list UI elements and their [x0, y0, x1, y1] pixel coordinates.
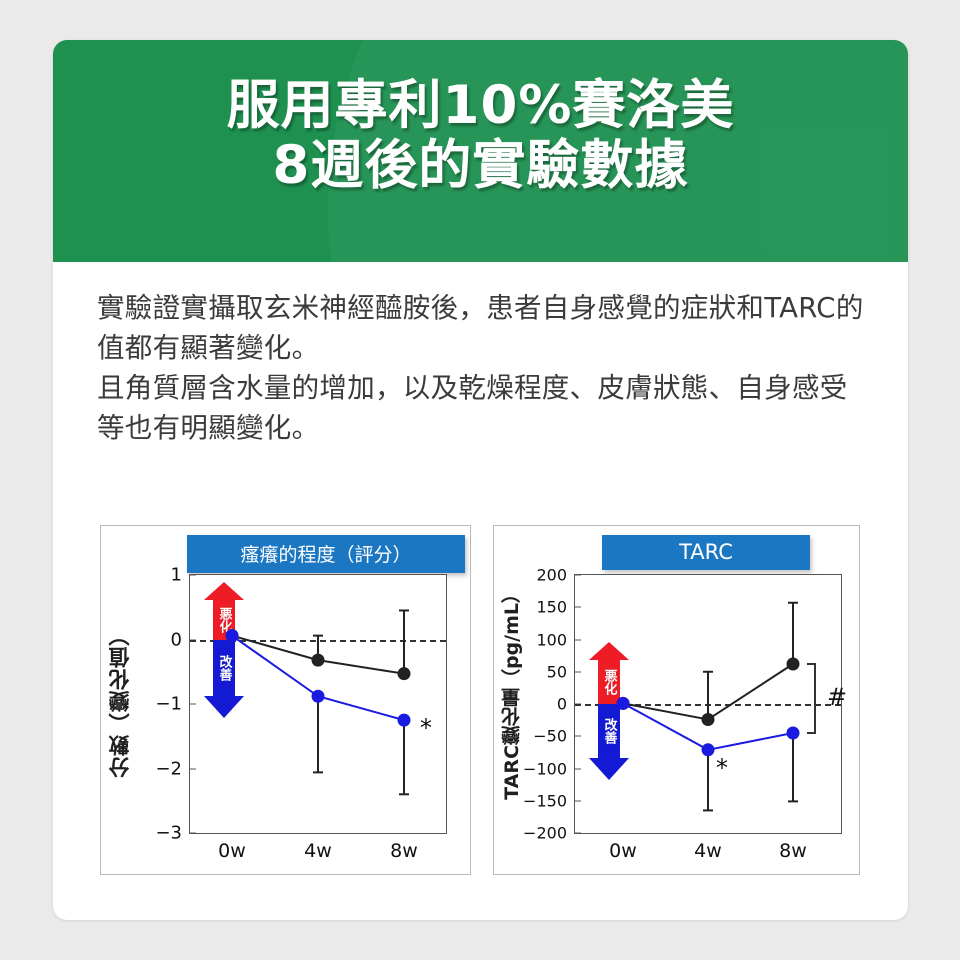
chart-plot-area-tarc: 200150100500−50−100−150−2000w4w8w悪化改善*#: [574, 574, 842, 834]
significance-bracket: [807, 664, 815, 733]
body-text: 實驗證實攝取玄米神經醯胺後，患者自身感覺的症狀和TARC的值都有顯著變化。 且角…: [97, 288, 872, 449]
y-axis-tick-label: 200: [536, 566, 567, 585]
annotation-asterisk: *: [716, 756, 728, 780]
y-axis-tick-label: −200: [523, 824, 567, 843]
x-axis-tick-label: 0w: [609, 840, 637, 862]
x-axis-tick-label: 8w: [390, 840, 418, 862]
page-root: 服用專利10%賽洛美 8週後的實驗數據 實驗證實攝取玄米神經醯胺後，患者自身感覺…: [0, 0, 960, 960]
y-axis-tick-label: −3: [155, 823, 182, 844]
charts-row: 瘙癢的程度（評分） 分數（變化值） 10−1−2−30w4w8w悪化改善* TA…: [100, 525, 860, 875]
chart-series-layer: [190, 575, 446, 833]
x-axis-tick-label: 8w: [779, 840, 807, 862]
header-banner: 服用專利10%賽洛美 8週後的實驗數據: [53, 40, 908, 262]
x-axis-tick-label: 4w: [694, 840, 722, 862]
chart-panel-itch-score: 瘙癢的程度（評分） 分數（變化值） 10−1−2−30w4w8w悪化改善*: [100, 525, 471, 875]
y-axis-tick-label: −2: [155, 758, 182, 779]
content-card: 服用專利10%賽洛美 8週後的實驗數據 實驗證實攝取玄米神經醯胺後，患者自身感覺…: [53, 40, 908, 920]
data-point: [398, 667, 411, 680]
data-point: [787, 658, 800, 671]
header-title-line1: 服用專利10%賽洛美: [53, 76, 908, 136]
y-axis-tick-label: −1: [155, 694, 182, 715]
x-axis-tick-label: 4w: [304, 840, 332, 862]
chart-plot-area-itch-score: 10−1−2−30w4w8w悪化改善*: [189, 574, 447, 834]
y-axis-tick-label: 150: [536, 598, 567, 617]
data-point: [312, 654, 325, 667]
data-point: [617, 697, 630, 710]
chart-ylabel-tarc: TARC變化量（pg/mL）: [498, 584, 525, 800]
annotation-hash: #: [827, 685, 847, 709]
y-axis-tick-label: 1: [171, 565, 182, 586]
data-point: [702, 713, 715, 726]
data-point: [398, 714, 411, 727]
chart-series-layer: [575, 575, 841, 833]
chart-panel-tarc: TARC TARC變化量（pg/mL） 200150100500−50−100−…: [493, 525, 860, 875]
chart-title-tarc: TARC: [602, 535, 810, 570]
data-point: [226, 629, 239, 642]
data-point: [787, 727, 800, 740]
chart-ylabel-itch-score: 分數（變化值）: [105, 624, 135, 778]
annotation-asterisk: *: [420, 716, 432, 740]
data-point: [702, 743, 715, 756]
chart-title-itch-score: 瘙癢的程度（評分）: [187, 535, 465, 573]
header-title-line2: 8週後的實驗數據: [53, 136, 908, 196]
data-point: [312, 690, 325, 703]
y-axis-tick-label: 100: [536, 630, 567, 649]
y-axis-tick-label: −50: [533, 727, 567, 746]
body-paragraph-1: 實驗證實攝取玄米神經醯胺後，患者自身感覺的症狀和TARC的值都有顯著變化。: [97, 288, 872, 368]
y-axis-tick-label: −100: [523, 759, 567, 778]
y-axis-tick-label: −150: [523, 791, 567, 810]
y-axis-tick-label: 0: [557, 695, 567, 714]
x-axis-tick-label: 0w: [218, 840, 246, 862]
y-axis-tick-label: 50: [547, 662, 567, 681]
y-axis-tick-label: 0: [171, 629, 182, 650]
header-title: 服用專利10%賽洛美 8週後的實驗數據: [53, 40, 908, 197]
body-paragraph-2: 且角質層含水量的增加，以及乾燥程度、皮膚狀態、自身感受等也有明顯變化。: [97, 368, 872, 448]
